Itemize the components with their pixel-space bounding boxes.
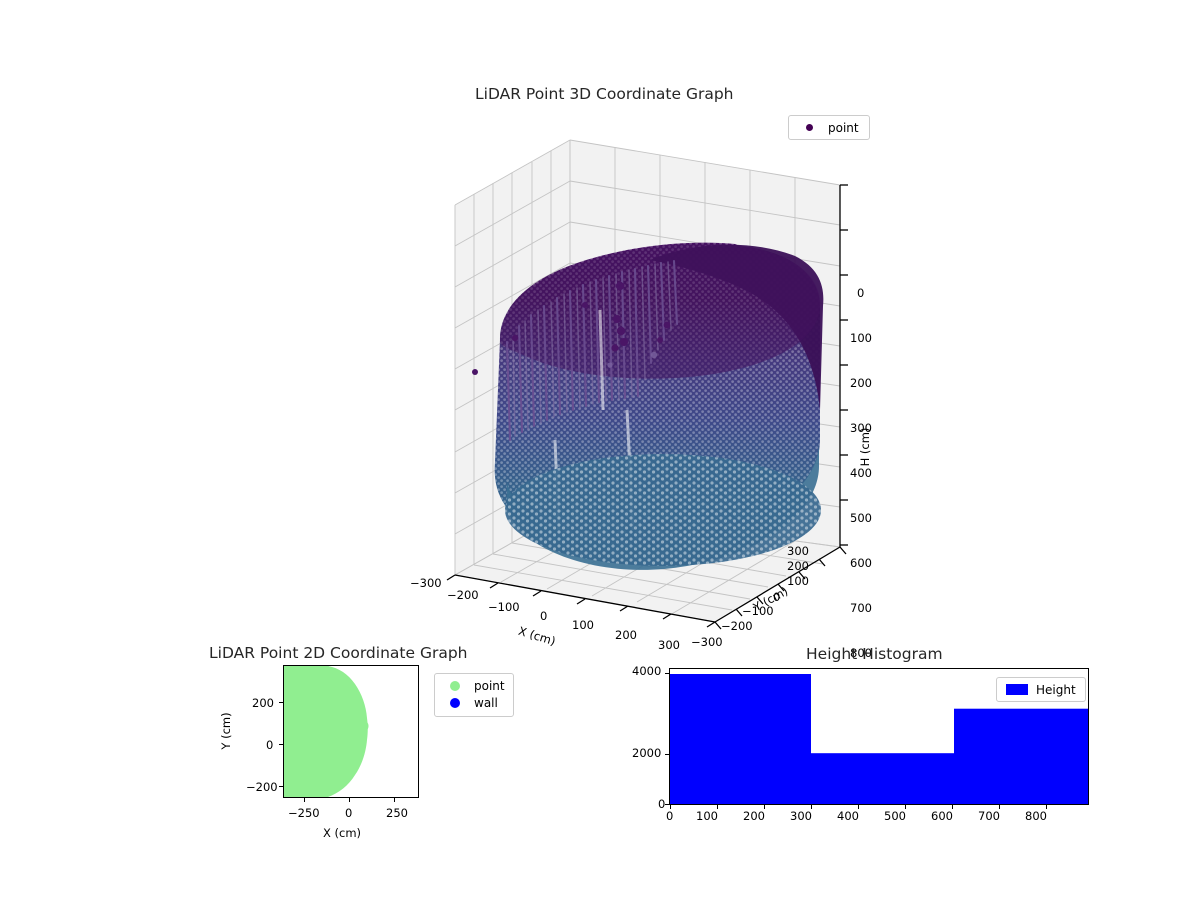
y-tick-200: 200 — [787, 559, 809, 573]
xh-tick-800: 800 — [1025, 809, 1047, 823]
x-tick-neg300: −300 — [410, 576, 442, 590]
z-axis-ticks — [840, 185, 848, 545]
legend-entry-height[interactable]: Height — [1004, 681, 1078, 698]
y2d-tickmark-200 — [279, 702, 283, 703]
x-tick-0: 0 — [540, 609, 547, 623]
x2d-tick-250: 250 — [386, 806, 408, 820]
z-tick-500: 500 — [850, 511, 872, 525]
y-tick-neg300: −300 — [691, 635, 723, 649]
xh-tickmark-300 — [811, 805, 812, 809]
xh-tick-500: 500 — [884, 809, 906, 823]
xh-tickmark-400 — [858, 805, 859, 809]
z-axis-label: H (cm) — [858, 417, 872, 477]
point-marker-icon — [442, 681, 468, 691]
yh-tickmark-0 — [665, 804, 669, 805]
legend-3d[interactable]: point — [788, 115, 870, 140]
wall-marker-icon — [442, 698, 468, 708]
x-tick-200: 200 — [615, 628, 637, 642]
x-tick-neg100: −100 — [488, 600, 520, 614]
x2d-tick-0: 0 — [345, 806, 352, 820]
yh-tickmark-2000 — [665, 754, 669, 755]
matplotlib-figure: 0 100 200 300 400 500 600 700 800 −300 −… — [0, 0, 1200, 900]
panel-2d-title: LiDAR Point 2D Coordinate Graph — [209, 644, 467, 662]
y2d-tick-neg200: −200 — [246, 780, 278, 794]
legend-entry-wall-2d[interactable]: wall — [442, 694, 506, 711]
legend-histogram[interactable]: Height — [996, 677, 1086, 702]
xh-tick-300: 300 — [790, 809, 812, 823]
xh-tickmark-0 — [670, 805, 671, 809]
hist-bar-0 — [670, 674, 811, 804]
x-tick-neg200: −200 — [447, 588, 479, 602]
x2d-tickmark-neg250 — [304, 798, 305, 802]
z-tick-600: 600 — [850, 556, 872, 570]
axes3d-canvas — [395, 110, 905, 630]
z-tick-200: 200 — [850, 376, 872, 390]
yh-tick-2000: 2000 — [632, 746, 661, 760]
x-tick-100: 100 — [572, 618, 594, 632]
z-tick-100: 100 — [850, 331, 872, 345]
xh-tickmark-100 — [717, 805, 718, 809]
legend-label-wall: wall — [468, 696, 498, 710]
panel-hist-title: Height Histogram — [806, 645, 943, 663]
height-patch-icon — [1004, 684, 1030, 695]
x2d-tickmark-250 — [394, 798, 395, 802]
x2d-tick-neg250: −250 — [288, 806, 320, 820]
xh-tick-200: 200 — [743, 809, 765, 823]
legend-label-height: Height — [1030, 683, 1076, 697]
xh-tickmark-500 — [905, 805, 906, 809]
y2d-tickmark-0 — [279, 744, 283, 745]
xh-tick-0: 0 — [666, 809, 673, 823]
point-marker-icon — [796, 124, 822, 131]
yh-tick-4000: 4000 — [632, 664, 661, 678]
legend-label-point: point — [468, 679, 505, 693]
x-tick-300: 300 — [658, 638, 680, 652]
z-tick-0: 0 — [857, 286, 864, 300]
legend-label-point: point — [822, 121, 859, 135]
xh-tickmark-600 — [952, 805, 953, 809]
pointcloud-shell — [472, 243, 823, 570]
x2d-axis-label: X (cm) — [323, 826, 361, 840]
hist-bar-1 — [811, 753, 954, 804]
z-tick-700: 700 — [850, 601, 872, 615]
lidar-3d-axes[interactable]: 0 100 200 300 400 500 600 700 800 −300 −… — [395, 110, 905, 630]
xh-tickmark-200 — [764, 805, 765, 809]
xh-tick-100: 100 — [696, 809, 718, 823]
xh-tick-600: 600 — [931, 809, 953, 823]
xh-tick-700: 700 — [978, 809, 1000, 823]
y2d-axis-label: Y (cm) — [219, 701, 233, 761]
panel-3d-title: LiDAR Point 3D Coordinate Graph — [475, 85, 733, 103]
yh-tickmark-4000 — [665, 673, 669, 674]
point-region — [284, 666, 368, 797]
axes2d-canvas — [284, 666, 418, 797]
y-tick-neg200: −200 — [721, 619, 753, 633]
y-tick-300: 300 — [787, 544, 809, 558]
x2d-tickmark-0 — [349, 798, 350, 802]
y-tick-100: 100 — [787, 574, 809, 588]
legend-2d[interactable]: point wall — [434, 673, 514, 717]
xh-tickmark-800 — [1046, 805, 1047, 809]
xh-tickmark-700 — [999, 805, 1000, 809]
lidar-2d-axes[interactable] — [283, 665, 419, 798]
legend-entry-point-2d[interactable]: point — [442, 677, 506, 694]
xh-tick-400: 400 — [837, 809, 859, 823]
y2d-tickmark-neg200 — [279, 786, 283, 787]
hist-bar-2 — [954, 709, 1088, 804]
y2d-tick-200: 200 — [252, 696, 274, 710]
y2d-tick-0: 0 — [266, 738, 273, 752]
legend-entry-point[interactable]: point — [796, 119, 862, 136]
